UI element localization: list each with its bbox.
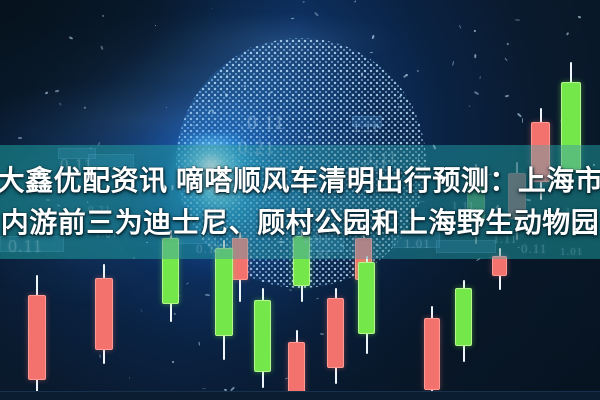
candlestick-up: [254, 288, 271, 388]
candlestick-up: [358, 256, 375, 354]
candlestick-up: [455, 280, 472, 362]
candle-body: [215, 248, 233, 336]
candlestick-down: [28, 275, 46, 400]
bottom-strip: [0, 391, 600, 400]
candle-body: [28, 295, 46, 380]
headline-line-1: 大鑫优配资讯 嘀嗒顺风车清明出行预测：上海市: [0, 161, 600, 201]
candle-body: [358, 262, 375, 334]
candlestick-down: [288, 330, 305, 400]
headline-block: 大鑫优配资讯 嘀嗒顺风车清明出行预测：上海市 内游前三为迪士尼、顾村公园和上海野…: [0, 150, 600, 254]
candlestick-down: [95, 264, 113, 364]
candle-body: [95, 278, 113, 350]
candle-body: [254, 300, 271, 372]
candle-body: [455, 288, 472, 346]
candle-body: [492, 256, 507, 276]
candlestick-down: [424, 306, 440, 400]
banner-image: 0.110.110.211.111.113.110.111.010.211.01…: [0, 0, 600, 400]
candle-body: [327, 298, 344, 368]
headline-line-2: 内游前三为迪士尼、顾村公园和上海野生动物园: [1, 203, 600, 243]
candle-body: [424, 318, 440, 390]
candlestick-down: [327, 288, 344, 384]
